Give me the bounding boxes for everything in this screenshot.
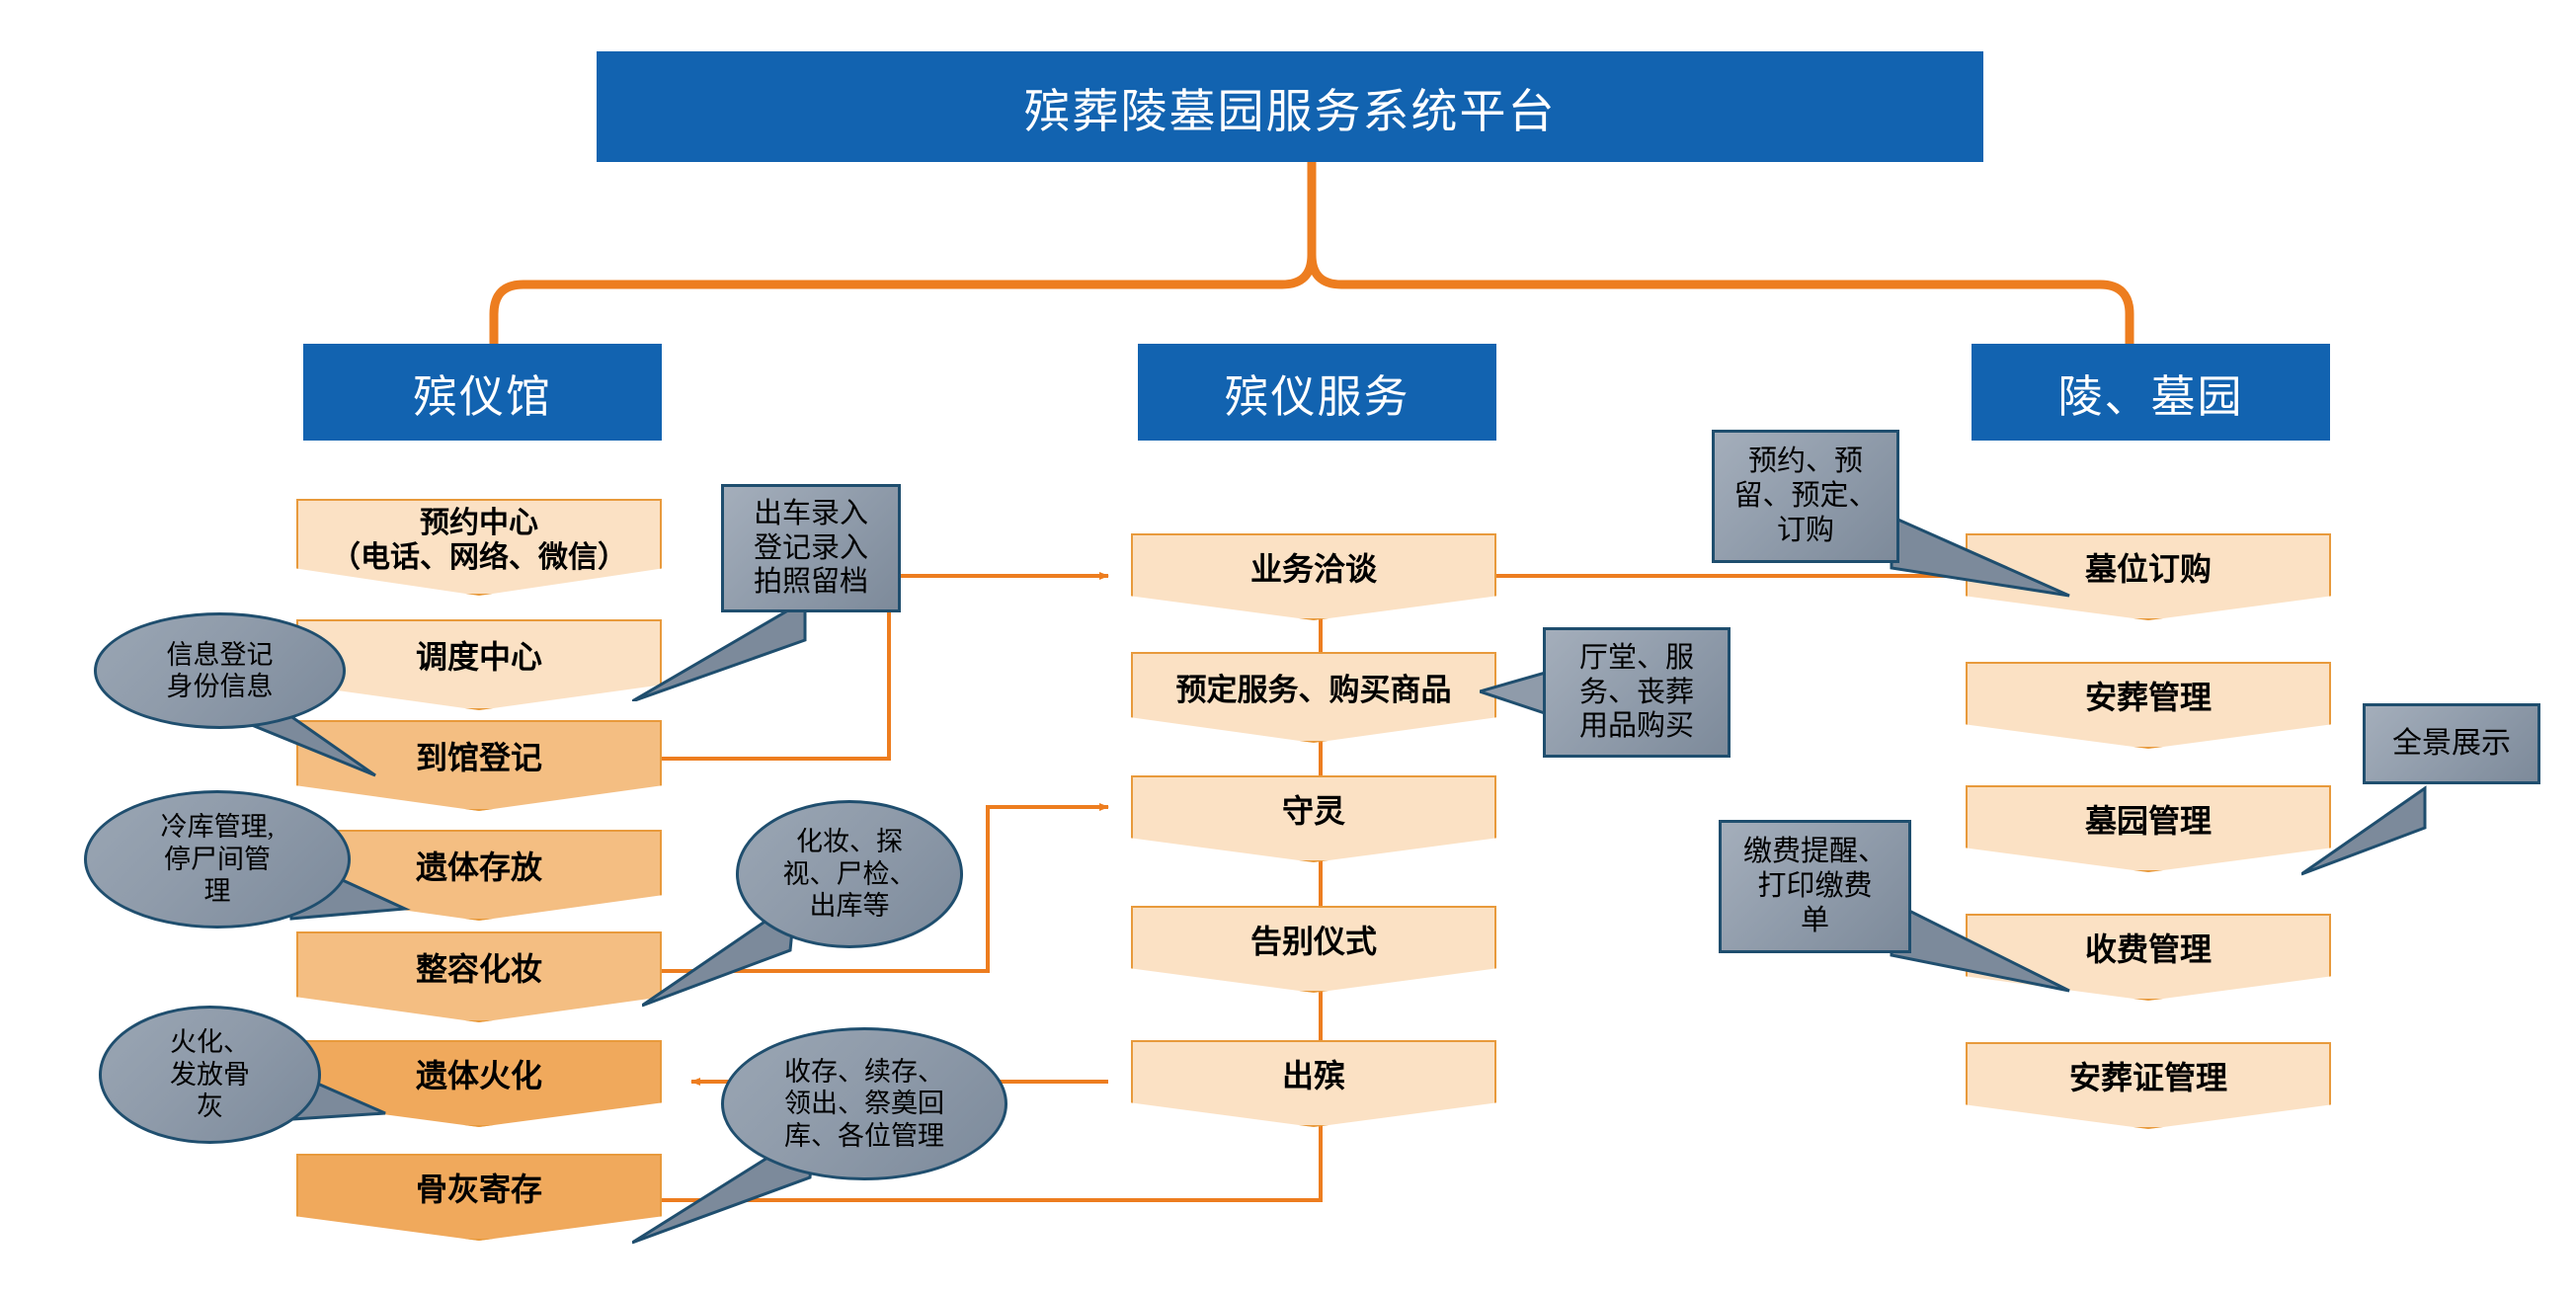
callout-line: 留、预定、 — [1733, 480, 1877, 512]
callout-line: 身份信息 — [167, 672, 274, 701]
process-business-consultation[interactable]: 业务洽谈 — [1131, 533, 1496, 620]
callout-booking-reserve: 预约、预 留、预定、 订购 — [1712, 430, 1899, 563]
callout-cremation-ash: 火化、 发放骨 灰 — [99, 1006, 321, 1144]
process-ash-storage[interactable]: 骨灰寄存 — [296, 1154, 662, 1241]
callout-hall-service: 厅堂、服 务、丧葬 用品购买 — [1543, 627, 1731, 758]
process-label: 业务洽谈 — [1250, 551, 1377, 603]
process-label: 守灵 — [1282, 793, 1345, 845]
process-label: 安葬证管理 — [2069, 1060, 2227, 1111]
callout-tail-booking-reserve — [1887, 499, 2074, 607]
callout-line: 缴费提醒、 — [1743, 836, 1887, 867]
callout-line: 灰 — [197, 1092, 223, 1121]
callout-line: 收存、续存、 — [784, 1057, 944, 1087]
callout-line: 发放骨 — [170, 1060, 250, 1090]
callout-line: 预约、预 — [1748, 445, 1863, 477]
process-label: 预定服务、购买商品 — [1176, 673, 1452, 723]
callout-line: 停尸间管 — [164, 845, 271, 874]
process-label: 安葬管理 — [2085, 680, 2212, 731]
process-label: 骨灰寄存 — [416, 1172, 542, 1223]
callout-line: 打印缴费 — [1757, 870, 1872, 902]
callout-dispatch-entry: 出车录入 登记录入 拍照留档 — [721, 484, 901, 612]
callout-line: 理 — [204, 876, 231, 906]
callout-tail-panorama — [2301, 780, 2430, 889]
process-label: 收费管理 — [2085, 931, 2212, 983]
callout-line: 信息登记 — [167, 640, 274, 670]
callout-line: 化妆、探 — [796, 827, 903, 856]
callout-ash-custody: 收存、续存、 领出、祭奠回 库、各位管理 — [721, 1027, 1007, 1180]
process-appointment-center[interactable]: 预约中心（电话、网络、微信） — [296, 499, 662, 596]
callout-line: 单 — [1801, 905, 1829, 936]
callout-line: 订购 — [1777, 515, 1834, 546]
callout-line: 领出、祭奠回 — [784, 1089, 944, 1118]
process-label: 告别仪式 — [1250, 924, 1377, 975]
callout-payment-remind: 缴费提醒、 打印缴费 单 — [1719, 820, 1911, 953]
callout-line: 库、各位管理 — [784, 1121, 944, 1151]
callout-line: 冷库管理, — [161, 812, 275, 842]
callout-line: 全景展示 — [2392, 726, 2511, 762]
column-header-funeral-service: 殡仪服务 — [1138, 344, 1496, 441]
process-label: 预约中心（电话、网络、微信） — [331, 506, 627, 590]
process-label: 到馆登记 — [416, 740, 542, 791]
process-label: 遗体火化 — [416, 1058, 542, 1109]
column-header-cemetery: 陵、墓园 — [1972, 344, 2330, 441]
process-booking-purchase[interactable]: 预定服务、购买商品 — [1131, 652, 1496, 743]
diagram-canvas: 殡葬陵墓园服务系统平台 殡仪馆 殡仪服务 陵、墓园 预约中心（电话、网络、微信）… — [0, 0, 2576, 1294]
callout-makeup-visit: 化妆、探 视、尸检、 出库等 — [736, 800, 963, 948]
process-label: 调度中心 — [416, 639, 542, 690]
process-label: 遗体存放 — [416, 849, 542, 901]
callout-cold-storage: 冷库管理, 停尸间管 理 — [84, 790, 351, 929]
callout-panorama: 全景展示 — [2363, 703, 2540, 784]
process-funeral-procession[interactable]: 出殡 — [1131, 1040, 1496, 1127]
callout-line: 拍照留档 — [754, 566, 868, 598]
process-burial-management[interactable]: 安葬管理 — [1966, 662, 2331, 749]
callout-line: 火化、 — [170, 1027, 250, 1057]
process-burial-certificate-management[interactable]: 安葬证管理 — [1966, 1042, 2331, 1129]
process-farewell-ceremony[interactable]: 告别仪式 — [1131, 906, 1496, 993]
process-label: 墓位订购 — [2085, 551, 2212, 603]
process-label: 墓园管理 — [2085, 803, 2212, 854]
callout-line: 出库等 — [810, 891, 890, 921]
callout-line: 登记录入 — [754, 532, 868, 564]
callout-line: 出车录入 — [754, 498, 868, 529]
callout-line: 视、尸检、 — [783, 859, 917, 889]
process-label: 整容化妆 — [416, 951, 542, 1003]
callout-tail-payment-remind — [1887, 884, 2074, 1003]
callout-line: 务、丧葬 — [1579, 677, 1694, 708]
callout-line: 厅堂、服 — [1579, 642, 1694, 674]
callout-info-register: 信息登记 身份信息 — [94, 612, 346, 729]
page-title: 殡葬陵墓园服务系统平台 — [597, 51, 1983, 162]
process-label: 出殡 — [1282, 1058, 1345, 1109]
process-vigil[interactable]: 守灵 — [1131, 775, 1496, 862]
process-cemetery-management[interactable]: 墓园管理 — [1966, 785, 2331, 872]
column-header-funeral-home: 殡仪馆 — [303, 344, 662, 441]
callout-line: 用品购买 — [1579, 710, 1694, 742]
